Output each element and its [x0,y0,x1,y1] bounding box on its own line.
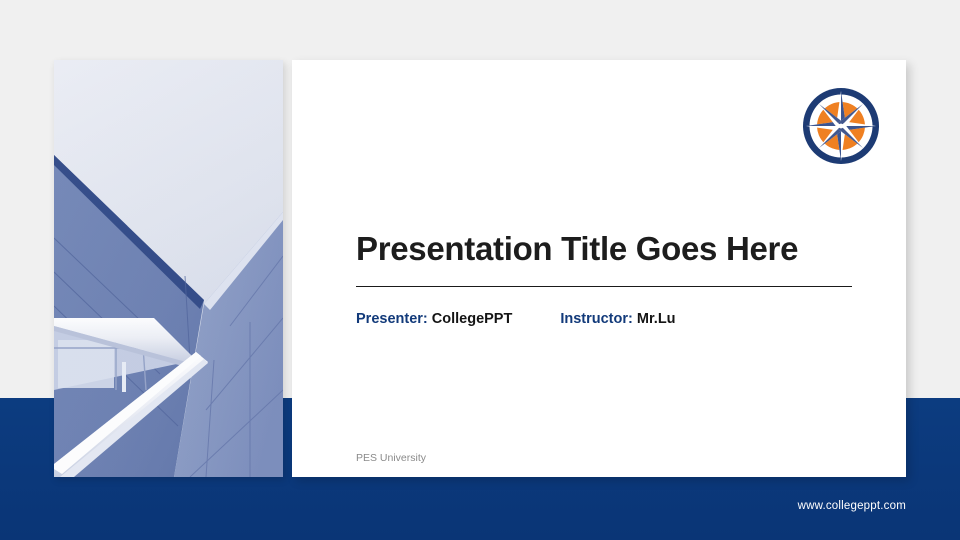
organization-name: PES University [356,452,426,464]
architecture-photo [54,60,283,477]
presentation-slide: Presentation Title Goes Here Presenter: … [0,0,960,540]
instructor-label: Instructor: [560,311,633,327]
title-divider [356,286,852,287]
instructor-name: Mr.Lu [637,311,676,327]
presenter-group: Presenter: CollegePPT [356,311,512,327]
presenter-instructor-line: Presenter: CollegePPTInstructor: Mr.Lu [356,311,676,327]
page-title: Presentation Title Goes Here [356,230,856,268]
compass-rose-logo [801,86,881,166]
instructor-group: Instructor: Mr.Lu [560,311,675,327]
presenter-label: Presenter: [356,311,428,327]
presenter-name: CollegePPT [432,311,513,327]
website-url: www.collegeppt.com [798,500,906,512]
